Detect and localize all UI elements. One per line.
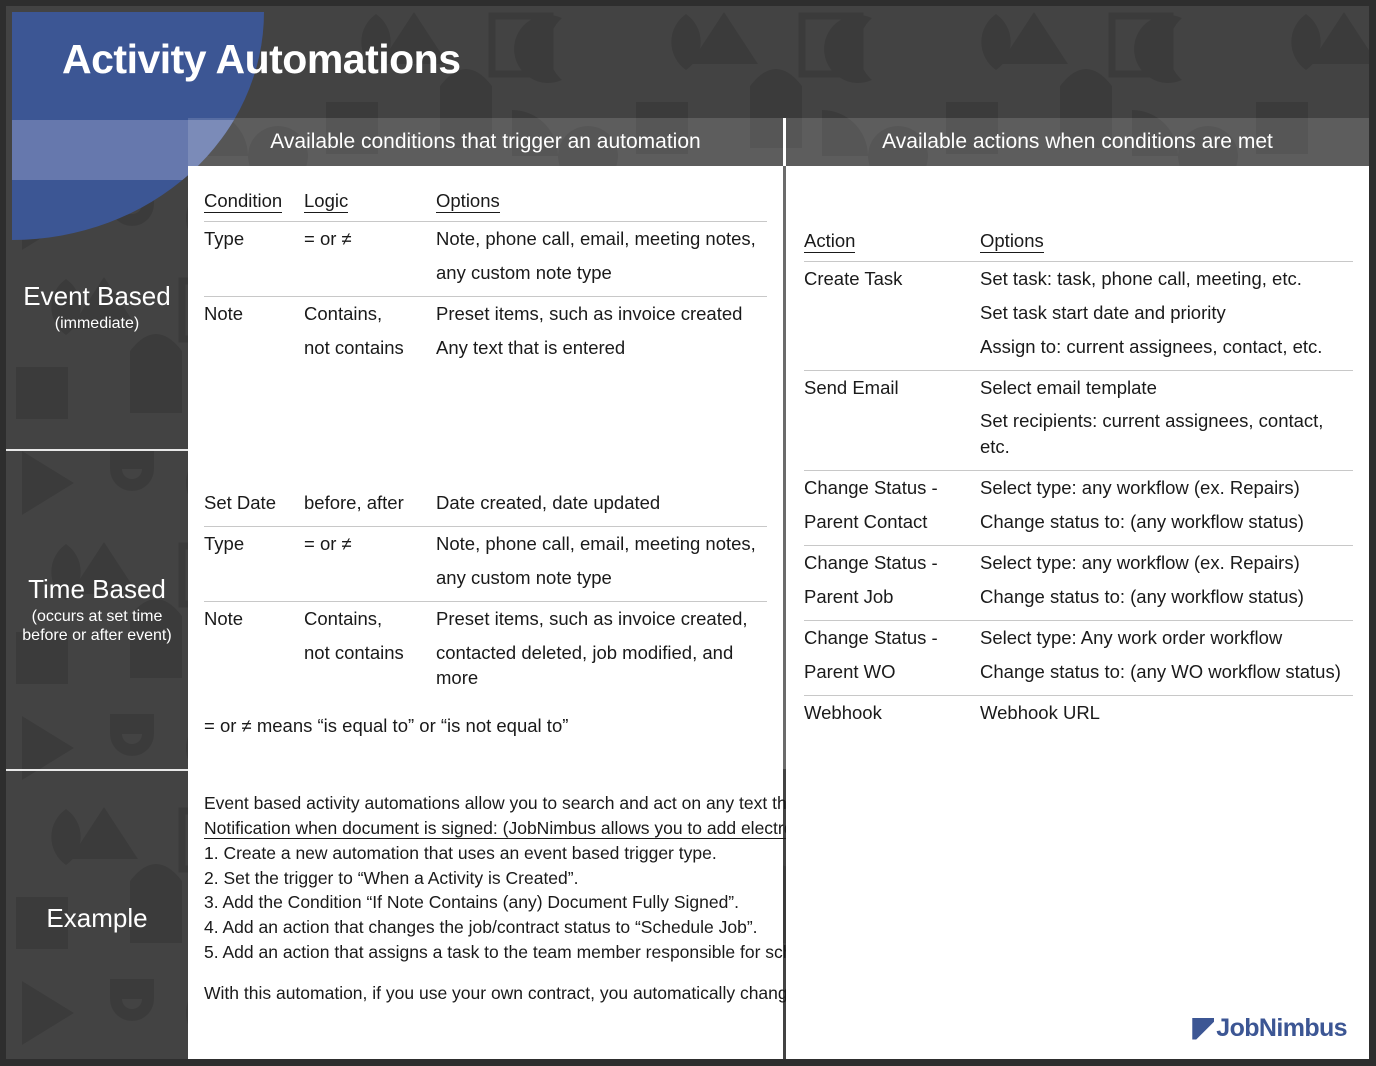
cell-action-line: Change Status - (804, 550, 980, 576)
sidebar-item-example-title: Example (46, 904, 147, 934)
cell-options: Select type: Any work order workflow Cha… (980, 620, 1353, 695)
cell-condition: Set Date (204, 486, 304, 526)
column-header-condition: Condition (204, 184, 304, 221)
cell-action: Send Email (804, 370, 980, 471)
event-based-conditions-block: Condition Logic Options Type = or ≠ Note… (188, 166, 783, 449)
cell-options: Preset items, such as invoice created, c… (436, 601, 767, 701)
cell-condition: Note (204, 296, 304, 370)
cell-options-line: Select email template (980, 375, 1353, 401)
table-row: Change Status - Parent Job Select type: … (804, 546, 1353, 621)
table-header-row: Condition Logic Options (204, 184, 767, 221)
cell-condition: Type (204, 526, 304, 601)
cell-options-line: any custom note type (436, 260, 767, 286)
cell-logic-line: Contains, (304, 301, 436, 327)
actions-panel: Action Options Create Task Set task: tas… (786, 166, 1369, 1059)
example-subtitle-underlined: Notification when document is signed: (204, 818, 498, 839)
actions-table: Action Options Create Task Set task: tas… (804, 224, 1353, 735)
cell-options-line: Change status to: (any workflow status) (980, 584, 1353, 610)
time-conditions-table: Set Date before, after Date created, dat… (204, 486, 767, 701)
table-row: Change Status - Parent Contact Select ty… (804, 471, 1353, 546)
sidebar-item-event-based-sub: (immediate) (55, 314, 139, 333)
time-based-conditions-block: Set Date before, after Date created, dat… (188, 451, 783, 769)
cell-options-line: Set recipients: current assignees, conta… (980, 408, 1353, 460)
column-header-logic: Logic (304, 184, 436, 221)
sidebar-item-time-based: Time Based (occurs at set time before or… (6, 451, 188, 769)
cell-logic-line: not contains (304, 335, 436, 361)
cell-action-line: Parent Job (804, 584, 980, 610)
slide-canvas: Activity Automations Available condition… (6, 6, 1369, 1059)
table-row: Note Contains, not contains Preset items… (204, 601, 767, 701)
table-row: Webhook Webhook URL (804, 695, 1353, 735)
cell-options: Webhook URL (980, 695, 1353, 735)
cell-options-line: Assign to: current assignees, contact, e… (980, 334, 1353, 360)
jobnimbus-mark-icon (1192, 1018, 1214, 1040)
cell-options-line: Select type: any workflow (ex. Repairs) (980, 550, 1353, 576)
column-header-action: Action (804, 224, 980, 261)
cell-options-line: Change status to: (any workflow status) (980, 509, 1353, 535)
cell-logic: before, after (304, 486, 436, 526)
content-panels: Condition Logic Options Type = or ≠ Note… (188, 166, 1369, 1059)
table-row: Send Email Select email template Set rec… (804, 370, 1353, 471)
cell-action: Change Status - Parent Job (804, 546, 980, 621)
cell-options-line: Set task: task, phone call, meeting, etc… (980, 266, 1353, 292)
cell-options: Date created, date updated (436, 486, 767, 526)
page-title: Activity Automations (62, 36, 461, 83)
cell-options-line: Preset items, such as invoice created (436, 301, 767, 327)
cell-options-line: Select type: Any work order workflow (980, 625, 1353, 651)
cell-condition: Type (204, 221, 304, 296)
table-row: Create Task Set task: task, phone call, … (804, 261, 1353, 370)
event-conditions-table: Condition Logic Options Type = or ≠ Note… (204, 184, 767, 370)
cell-options-line: Set task start date and priority (980, 300, 1353, 326)
actions-column-header: Available actions when conditions are me… (786, 118, 1369, 166)
table-header-row: Action Options (804, 224, 1353, 261)
cell-logic: = or ≠ (304, 526, 436, 601)
column-header-band: Available conditions that trigger an aut… (6, 118, 1369, 166)
cell-options-line: Change status to: (any WO workflow statu… (980, 659, 1353, 685)
actions-column-header-label: Available actions when conditions are me… (882, 130, 1273, 154)
column-header-options: Options (980, 224, 1353, 261)
slide-root: Activity Automations Available condition… (0, 0, 1376, 1066)
cell-options: Select email template Set recipients: cu… (980, 370, 1353, 471)
conditions-column-header-label: Available conditions that trigger an aut… (270, 130, 700, 154)
table-row: Note Contains, not contains Preset items… (204, 296, 767, 370)
cell-logic-line: Contains, (304, 606, 436, 632)
sidebar-item-time-based-sub: (occurs at set time before or after even… (13, 607, 181, 645)
cell-action: Change Status - Parent Contact (804, 471, 980, 546)
cell-options-line: contacted deleted, job modified, and mor… (436, 640, 767, 692)
cell-action-line: Parent Contact (804, 509, 980, 535)
cell-action: Create Task (804, 261, 980, 370)
cell-options: Select type: any workflow (ex. Repairs) … (980, 471, 1353, 546)
jobnimbus-logo: JobNimbus (1192, 1014, 1347, 1043)
cell-logic: = or ≠ (304, 221, 436, 296)
cell-action: Change Status - Parent WO (804, 620, 980, 695)
cell-logic: Contains, not contains (304, 601, 436, 701)
table-row: Type = or ≠ Note, phone call, email, mee… (204, 221, 767, 296)
cell-options-line: any custom note type (436, 565, 767, 591)
cell-options: Select type: any workflow (ex. Repairs) … (980, 546, 1353, 621)
cell-options-line: Select type: any workflow (ex. Repairs) (980, 475, 1353, 501)
sidebar-item-time-based-title: Time Based (28, 575, 166, 605)
equality-footnote: = or ≠ means “is equal to” or “is not eq… (204, 715, 568, 737)
cell-options: Note, phone call, email, meeting notes, … (436, 526, 767, 601)
cell-action-line: Parent WO (804, 659, 980, 685)
header-band-spacer (6, 118, 188, 166)
actions-block: Action Options Create Task Set task: tas… (786, 166, 1369, 769)
cell-options: Set task: task, phone call, meeting, etc… (980, 261, 1353, 370)
sidebar-item-example: Example (6, 771, 188, 1059)
column-header-options: Options (436, 184, 767, 221)
cell-action-line: Change Status - (804, 625, 980, 651)
sidebar: Event Based (immediate) Time Based (occu… (6, 166, 188, 1059)
conditions-column-header: Available conditions that trigger an aut… (188, 118, 783, 166)
sidebar-item-event-based: Event Based (immediate) (6, 166, 188, 449)
cell-options: Note, phone call, email, meeting notes, … (436, 221, 767, 296)
cell-condition: Note (204, 601, 304, 701)
sidebar-item-event-based-title: Event Based (23, 282, 170, 312)
table-row: Type = or ≠ Note, phone call, email, mee… (204, 526, 767, 601)
table-row: Set Date before, after Date created, dat… (204, 486, 767, 526)
jobnimbus-wordmark: JobNimbus (1216, 1014, 1347, 1043)
conditions-panel: Condition Logic Options Type = or ≠ Note… (188, 166, 783, 1059)
cell-logic: Contains, not contains (304, 296, 436, 370)
cell-options-line: Note, phone call, email, meeting notes, (436, 226, 767, 252)
cell-options-line: Preset items, such as invoice created, (436, 606, 767, 632)
cell-logic-line: not contains (304, 640, 436, 666)
cell-options-line: Any text that is entered (436, 335, 767, 361)
cell-action-line: Change Status - (804, 475, 980, 501)
cell-options: Preset items, such as invoice created An… (436, 296, 767, 370)
cell-action: Webhook (804, 695, 980, 735)
table-row: Change Status - Parent WO Select type: A… (804, 620, 1353, 695)
main-grid: Event Based (immediate) Time Based (occu… (6, 166, 1369, 1059)
cell-options-line: Note, phone call, email, meeting notes, (436, 531, 767, 557)
